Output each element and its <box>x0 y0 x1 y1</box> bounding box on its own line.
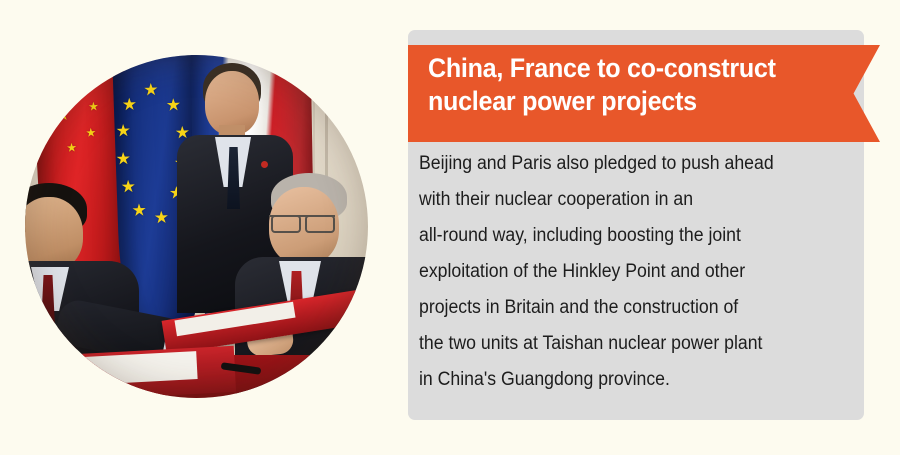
page-title-line-1: China, France to co-construct <box>428 52 819 85</box>
photo-image: ★ ★ ★ ★ ★ ★ ★ ★ ★ ★ ★ ★ ★ ★ ★ ★ <box>25 55 368 398</box>
body-line: Beijing and Paris also pledged to push a… <box>419 146 828 182</box>
article-photo: ★ ★ ★ ★ ★ ★ ★ ★ ★ ★ ★ ★ ★ ★ ★ ★ <box>25 55 368 398</box>
flag-star: ★ <box>77 77 88 90</box>
article-body: Beijing and Paris also pledged to push a… <box>419 146 828 398</box>
page-title: China, France to co-construct nuclear po… <box>428 52 819 118</box>
body-line: all-round way, including boosting the jo… <box>419 218 828 254</box>
body-line: projects in Britain and the construction… <box>419 290 828 326</box>
body-line: the two units at Taishan nuclear power p… <box>419 326 828 362</box>
page-title-line-2: nuclear power projects <box>428 85 819 118</box>
body-line: exploitation of the Hinkley Point and ot… <box>419 254 828 290</box>
body-line: with their nuclear cooperation in an <box>419 182 828 218</box>
photo-vignette <box>25 55 368 398</box>
body-line: in China's Guangdong province. <box>419 362 828 398</box>
infographic-canvas: ★ ★ ★ ★ ★ ★ ★ ★ ★ ★ ★ ★ ★ ★ ★ ★ <box>0 0 900 455</box>
